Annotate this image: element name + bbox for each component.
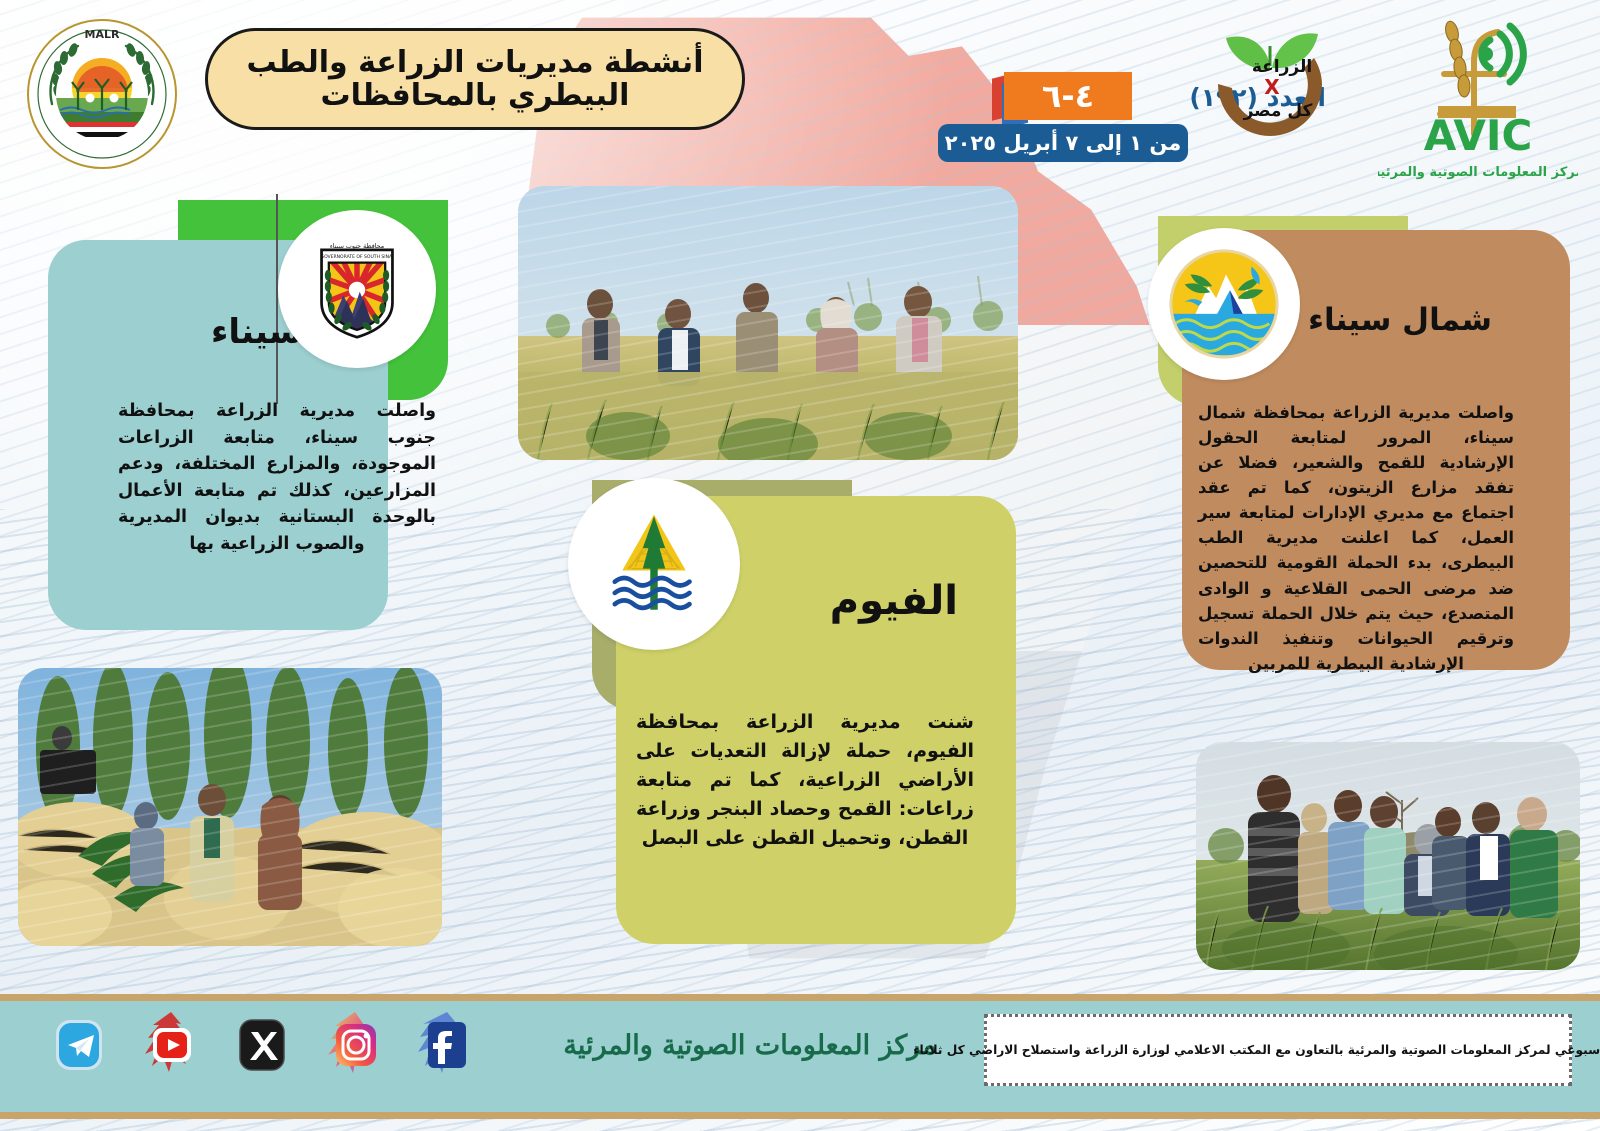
card-south-sinai: جنوب سيناء واصلت مديرية الزراعة بمحافظة … — [48, 222, 448, 642]
svg-text:محافظة جنوب سيناء: محافظة جنوب سيناء — [330, 243, 384, 250]
svg-text:GOVERNORATE OF SOUTH SINAI: GOVERNORATE OF SOUTH SINAI — [321, 254, 394, 260]
facebook-icon[interactable] — [414, 1012, 480, 1078]
page-title-text: أنشطة مديريات الزراعة والطب البيطري بالم… — [208, 46, 742, 112]
svg-text:X: X — [1264, 75, 1280, 99]
south-sinai-emblem-bubble: محافظة جنوب سيناء GOVERNORATE OF SOUTH S… — [278, 210, 436, 368]
svg-text:AVIC: AVIC — [1424, 111, 1533, 160]
card-north-sinai: شمال سيناء واصلت مديرية الزراعة بمحافظة … — [1140, 222, 1570, 672]
footer-note-text: اصدار اسبوعي لمركز المعلومات الصوتية وال… — [913, 1043, 1600, 1057]
date-range-text: من ١ إلى ٧ أبريل ٢٠٢٥ — [945, 131, 1182, 155]
north-sinai-title: شمال سيناء — [1308, 302, 1492, 338]
issue-badge-group: ٤-٦ العدد (١٩٢) من ١ إلى ٧ أبريل ٢٠٢٥ — [938, 72, 1210, 152]
fayoum-emblem-bubble — [568, 478, 740, 650]
youtube-icon[interactable] — [138, 1012, 204, 1078]
infographic-page: MALR أنشطة مديريات الزراعة والطب البيطري… — [0, 0, 1600, 1131]
south-sinai-body-text: واصلت مديرية الزراعة بمحافظة جنوب سيناء،… — [118, 398, 436, 558]
fayoum-governorate-emblem-icon — [598, 503, 710, 625]
field-inspection-group-photo — [1196, 742, 1580, 970]
page-range-text: ٤-٦ — [1042, 77, 1094, 115]
footer-top-rule — [0, 994, 1600, 1001]
zeraa-kol-masr-logo-icon: الزراعة X كل مصر — [1196, 8, 1344, 158]
instagram-icon[interactable] — [322, 1012, 388, 1078]
fayoum-title: الفيوم — [830, 578, 958, 624]
date-range-badge: من ١ إلى ٧ أبريل ٢٠٢٥ — [938, 124, 1188, 162]
north-sinai-governorate-emblem-icon — [1165, 245, 1283, 363]
svg-text:الزراعة: الزراعة — [1252, 57, 1312, 77]
page-range-badge: ٤-٦ — [1004, 72, 1132, 120]
telegram-icon[interactable] — [46, 1012, 112, 1078]
avic-logo-icon: AVIC مركز المعلومات الصوتية والمرئية — [1378, 2, 1578, 184]
north-sinai-body-text: واصلت مديرية الزراعة بمحافظة شمال سيناء،… — [1198, 400, 1514, 676]
straw-bundles-farmers-photo — [18, 668, 442, 946]
south-sinai-governorate-emblem-icon: محافظة جنوب سيناء GOVERNORATE OF SOUTH S… — [307, 235, 407, 343]
malr-ministry-seal-icon: MALR — [26, 18, 178, 170]
social-links — [46, 1012, 480, 1078]
page-title: أنشطة مديريات الزراعة والطب البيطري بالم… — [205, 28, 745, 130]
svg-text:MALR: MALR — [85, 28, 120, 41]
fayoum-body-text: شنت مديرية الزراعة بمحافظة الفيوم، حملة … — [636, 708, 974, 852]
wheat-field-group-photo — [518, 186, 1018, 460]
svg-text:كل مصر: كل مصر — [1243, 101, 1313, 121]
footer-note: اصدار اسبوعي لمركز المعلومات الصوتية وال… — [984, 1014, 1572, 1086]
footer-center-text: مركز المعلومات الصوتية والمرئية — [560, 1030, 940, 1061]
x-twitter-icon[interactable] — [230, 1012, 296, 1078]
north-sinai-emblem-bubble — [1148, 228, 1300, 380]
card-fayoum: الفيوم شنت مديرية الزراعة بمحافظة الفيوم… — [560, 478, 1030, 948]
footer-bottom-rule — [0, 1112, 1600, 1119]
svg-text:مركز المعلومات الصوتية والمرئي: مركز المعلومات الصوتية والمرئية — [1378, 165, 1578, 180]
